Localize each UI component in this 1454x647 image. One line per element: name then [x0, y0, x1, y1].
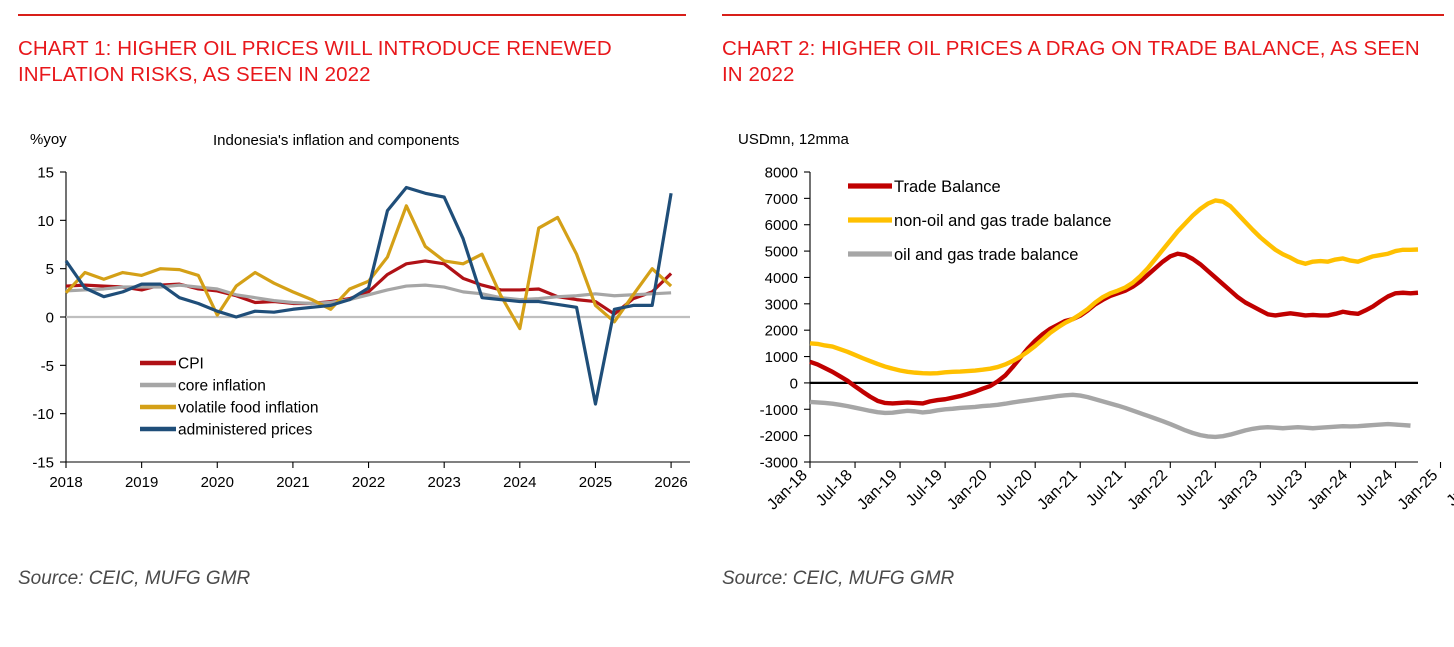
chart-1-x-tick-label: 2020	[201, 474, 234, 491]
chart-1-x-tick-label: 2019	[125, 474, 158, 491]
chart-1-x-tick-label: 2018	[49, 474, 82, 491]
chart-2-x-tick-label: Jul-19	[903, 467, 946, 510]
chart-1-x-tick-label: 2026	[654, 474, 687, 491]
chart-1-y-tick-label: 5	[46, 261, 54, 278]
chart-2-x-tick-label: Jan-24	[1305, 467, 1352, 514]
chart-2-y-tick-label: -2000	[760, 428, 798, 445]
chart-2-y-tick-label: 1000	[765, 349, 798, 366]
chart-2-legend-label: non-oil and gas trade balance	[894, 212, 1111, 230]
chart-2-x-tick-label: Jan-20	[944, 467, 991, 514]
chart-2-y-tick-label: 8000	[765, 165, 798, 182]
chart-1-x-tick-label: 2025	[579, 474, 612, 491]
chart-2-x-tick-label: Jul-23	[1263, 467, 1306, 510]
chart-2-x-tick-label: Jul-24	[1353, 467, 1396, 510]
chart-2-x-tick-label: Jan-21	[1034, 467, 1081, 514]
chart-1-y-tick-label: 10	[37, 213, 54, 230]
chart-2-y-tick-label: 4000	[765, 270, 798, 287]
chart-1-x-tick-label: 2023	[427, 474, 460, 491]
chart-1-axes: 151050-5-10-1520182019202020212022202320…	[32, 165, 690, 492]
chart-1-y-tick-label: -10	[32, 406, 54, 423]
chart-2-y-tick-label: 2000	[765, 323, 798, 340]
chart-1-title: CHART 1: HIGHER OIL PRICES WILL INTRODUC…	[18, 36, 678, 88]
chart-2-y-unit-label: USDmn, 12mma	[738, 131, 849, 148]
chart-2-y-tick-label: 5000	[765, 244, 798, 261]
chart-2-x-tick-label: Jan-25	[1395, 467, 1442, 514]
chart-2-x-tick-label: Jul-20	[993, 467, 1036, 510]
chart-1-legend-label: volatile food inflation	[178, 400, 318, 417]
chart-1-x-tick-label: 2022	[352, 474, 385, 491]
chart-2-y-tick-label: 7000	[765, 191, 798, 208]
chart-2-y-tick-label: -1000	[760, 402, 798, 419]
chart-2-series-line	[810, 254, 1418, 404]
chart-2-x-tick-label: Jul-25	[1444, 467, 1454, 510]
chart-2-y-tick-label: 0	[790, 375, 798, 392]
chart-2-svg: 800070006000500040003000200010000-1000-2…	[718, 150, 1454, 570]
chart-1-legend-label: core inflation	[178, 378, 266, 395]
chart-2-x-tick-label: Jan-22	[1125, 467, 1172, 514]
chart-2-series-group	[810, 200, 1418, 436]
chart-1-panel: CHART 1: HIGHER OIL PRICES WILL INTRODUC…	[0, 0, 712, 647]
chart-2-source: Source: CEIC, MUFG GMR	[722, 568, 954, 590]
chart-2-legend-label: Trade Balance	[894, 178, 1001, 196]
chart-2-x-tick-label: Jan-19	[854, 467, 901, 514]
chart-2-y-tick-label: 6000	[765, 217, 798, 234]
chart-1-x-tick-label: 2024	[503, 474, 536, 491]
chart-1-legend: CPIcore inflationvolatile food inflation…	[140, 356, 318, 439]
chart-1-series-group	[66, 187, 671, 404]
chart-2-y-tick-label: -3000	[760, 455, 798, 472]
chart-2-panel: CHART 2: HIGHER OIL PRICES A DRAG ON TRA…	[718, 0, 1454, 647]
chart-1-y-tick-label: 0	[46, 310, 54, 327]
chart-2-x-tick-label: Jan-23	[1215, 467, 1262, 514]
chart-1-plot-caption: Indonesia's inflation and components	[213, 132, 459, 149]
chart-2-x-tick-label: Jul-22	[1173, 467, 1216, 510]
chart-2-x-tick-label: Jan-18	[764, 467, 811, 514]
chart-1-source: Source: CEIC, MUFG GMR	[18, 568, 250, 590]
chart-2-x-tick-label: Jul-18	[813, 467, 856, 510]
chart-1-y-tick-label: -15	[32, 455, 54, 472]
chart-1-y-tick-label: -5	[41, 358, 54, 375]
chart-2-plot: 800070006000500040003000200010000-1000-2…	[718, 150, 1454, 570]
chart-1-legend-label: administered prices	[178, 422, 313, 439]
report-page: CHART 1: HIGHER OIL PRICES WILL INTRODUC…	[0, 0, 1454, 647]
chart-2-title: CHART 2: HIGHER OIL PRICES A DRAG ON TRA…	[722, 36, 1422, 88]
chart-1-y-tick-label: 15	[37, 165, 54, 182]
chart-1-plot: 151050-5-10-1520182019202020212022202320…	[0, 150, 712, 510]
chart-1-x-tick-label: 2021	[276, 474, 309, 491]
chart-1-series-line	[66, 206, 671, 329]
chart-2-top-rule	[722, 14, 1444, 16]
chart-2-legend-label: oil and gas trade balance	[894, 246, 1078, 264]
chart-2-x-tick-label: Jul-21	[1083, 467, 1126, 510]
chart-1-top-rule	[18, 14, 686, 16]
chart-2-legend: Trade Balancenon-oil and gas trade balan…	[848, 178, 1111, 264]
chart-2-y-tick-label: 3000	[765, 296, 798, 313]
chart-1-legend-label: CPI	[178, 356, 204, 373]
chart-1-y-unit-label: %yoy	[30, 131, 67, 148]
chart-1-svg: 151050-5-10-1520182019202020212022202320…	[0, 150, 712, 510]
